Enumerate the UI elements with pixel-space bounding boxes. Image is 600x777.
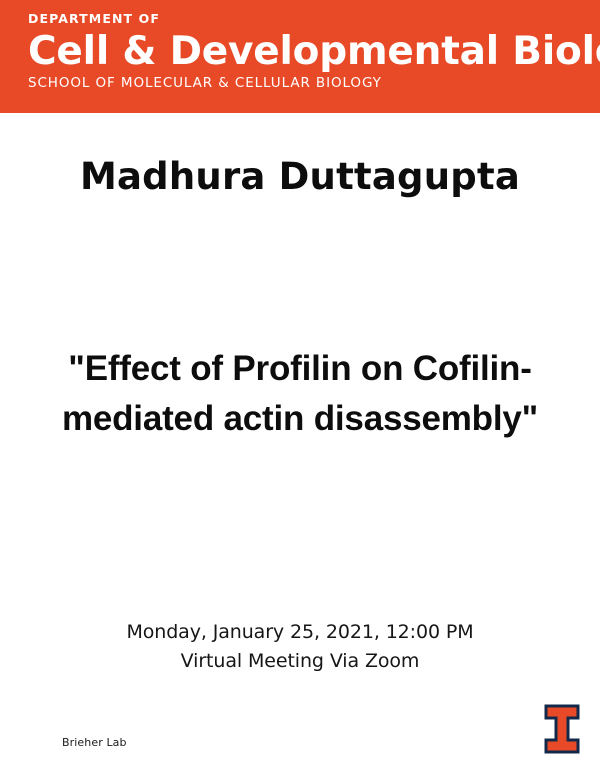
event-location: Virtual Meeting Via Zoom [0, 647, 600, 676]
lab-name: Brieher Lab [62, 736, 127, 749]
talk-title-line-2: mediated actin disassembly" [62, 399, 538, 438]
seminar-poster: DEPARTMENT OF Cell & Developmental Biolo… [0, 0, 600, 777]
event-details: Monday, January 25, 2021, 12:00 PM Virtu… [0, 618, 600, 677]
talk-title-line-1: "Effect of Profilin on Cofilin- [68, 349, 531, 388]
illinois-block-i-logo [543, 704, 581, 754]
banner-department-eyebrow: DEPARTMENT OF [28, 13, 600, 26]
event-date-time: Monday, January 25, 2021, 12:00 PM [0, 618, 600, 647]
banner-school-line: SCHOOL OF MOLECULAR & CELLULAR BIOLOGY [28, 77, 600, 91]
speaker-name: Madhura Duttagupta [0, 155, 600, 199]
block-i-icon [543, 704, 581, 754]
talk-title: "Effect of Profilin on Cofilin- mediated… [30, 344, 570, 443]
department-banner: DEPARTMENT OF Cell & Developmental Biolo… [0, 0, 600, 113]
banner-department-name: Cell & Developmental Biology [28, 32, 600, 73]
